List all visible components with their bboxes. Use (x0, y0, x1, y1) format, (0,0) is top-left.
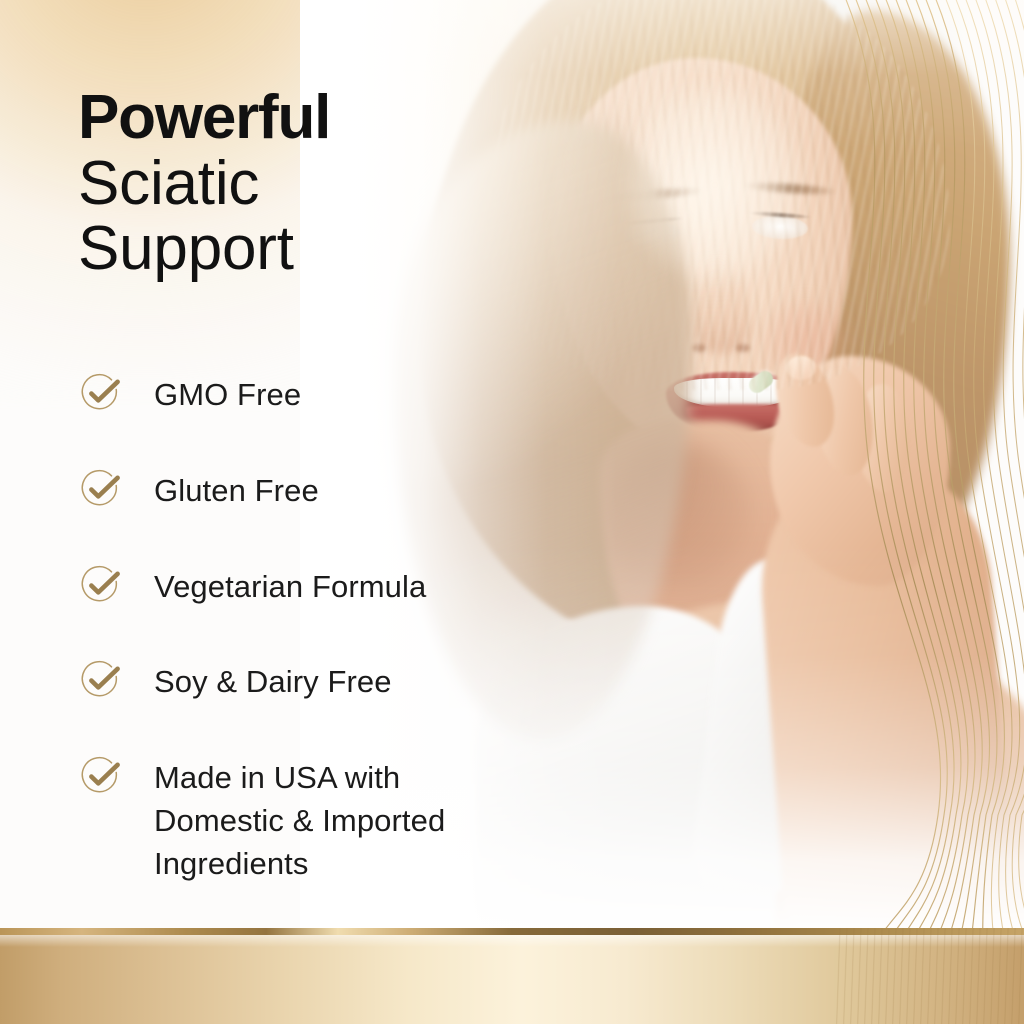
headline-line-3: Support (78, 218, 330, 279)
content-column: Powerful Sciatic Support GMO Free (0, 0, 620, 936)
list-item: Gluten Free (78, 468, 598, 513)
feature-label: Vegetarian Formula (154, 564, 426, 609)
headline-line-2: Sciatic (78, 153, 330, 214)
feature-label: Soy & Dairy Free (154, 659, 392, 704)
list-item: Vegetarian Formula (78, 564, 598, 609)
check-circle-icon (78, 370, 124, 416)
list-item: Made in USA with Domestic & Imported Ing… (78, 755, 598, 885)
list-item: Soy & Dairy Free (78, 659, 598, 704)
feature-label: Made in USA with Domestic & Imported Ing… (154, 755, 445, 885)
page-title: Powerful Sciatic Support (78, 87, 330, 279)
product-feature-graphic: Powerful Sciatic Support GMO Free (0, 0, 1024, 1024)
gold-bar-line-detail (834, 928, 1024, 1024)
list-item: GMO Free (78, 372, 598, 417)
headline-line-1: Powerful (78, 87, 330, 148)
check-circle-icon (78, 562, 124, 608)
check-circle-icon (78, 753, 124, 799)
check-circle-icon (78, 657, 124, 703)
feature-label: GMO Free (154, 372, 301, 417)
feature-list: GMO Free Gluten Free V (78, 372, 598, 885)
check-circle-icon (78, 466, 124, 512)
feature-label: Gluten Free (154, 468, 319, 513)
